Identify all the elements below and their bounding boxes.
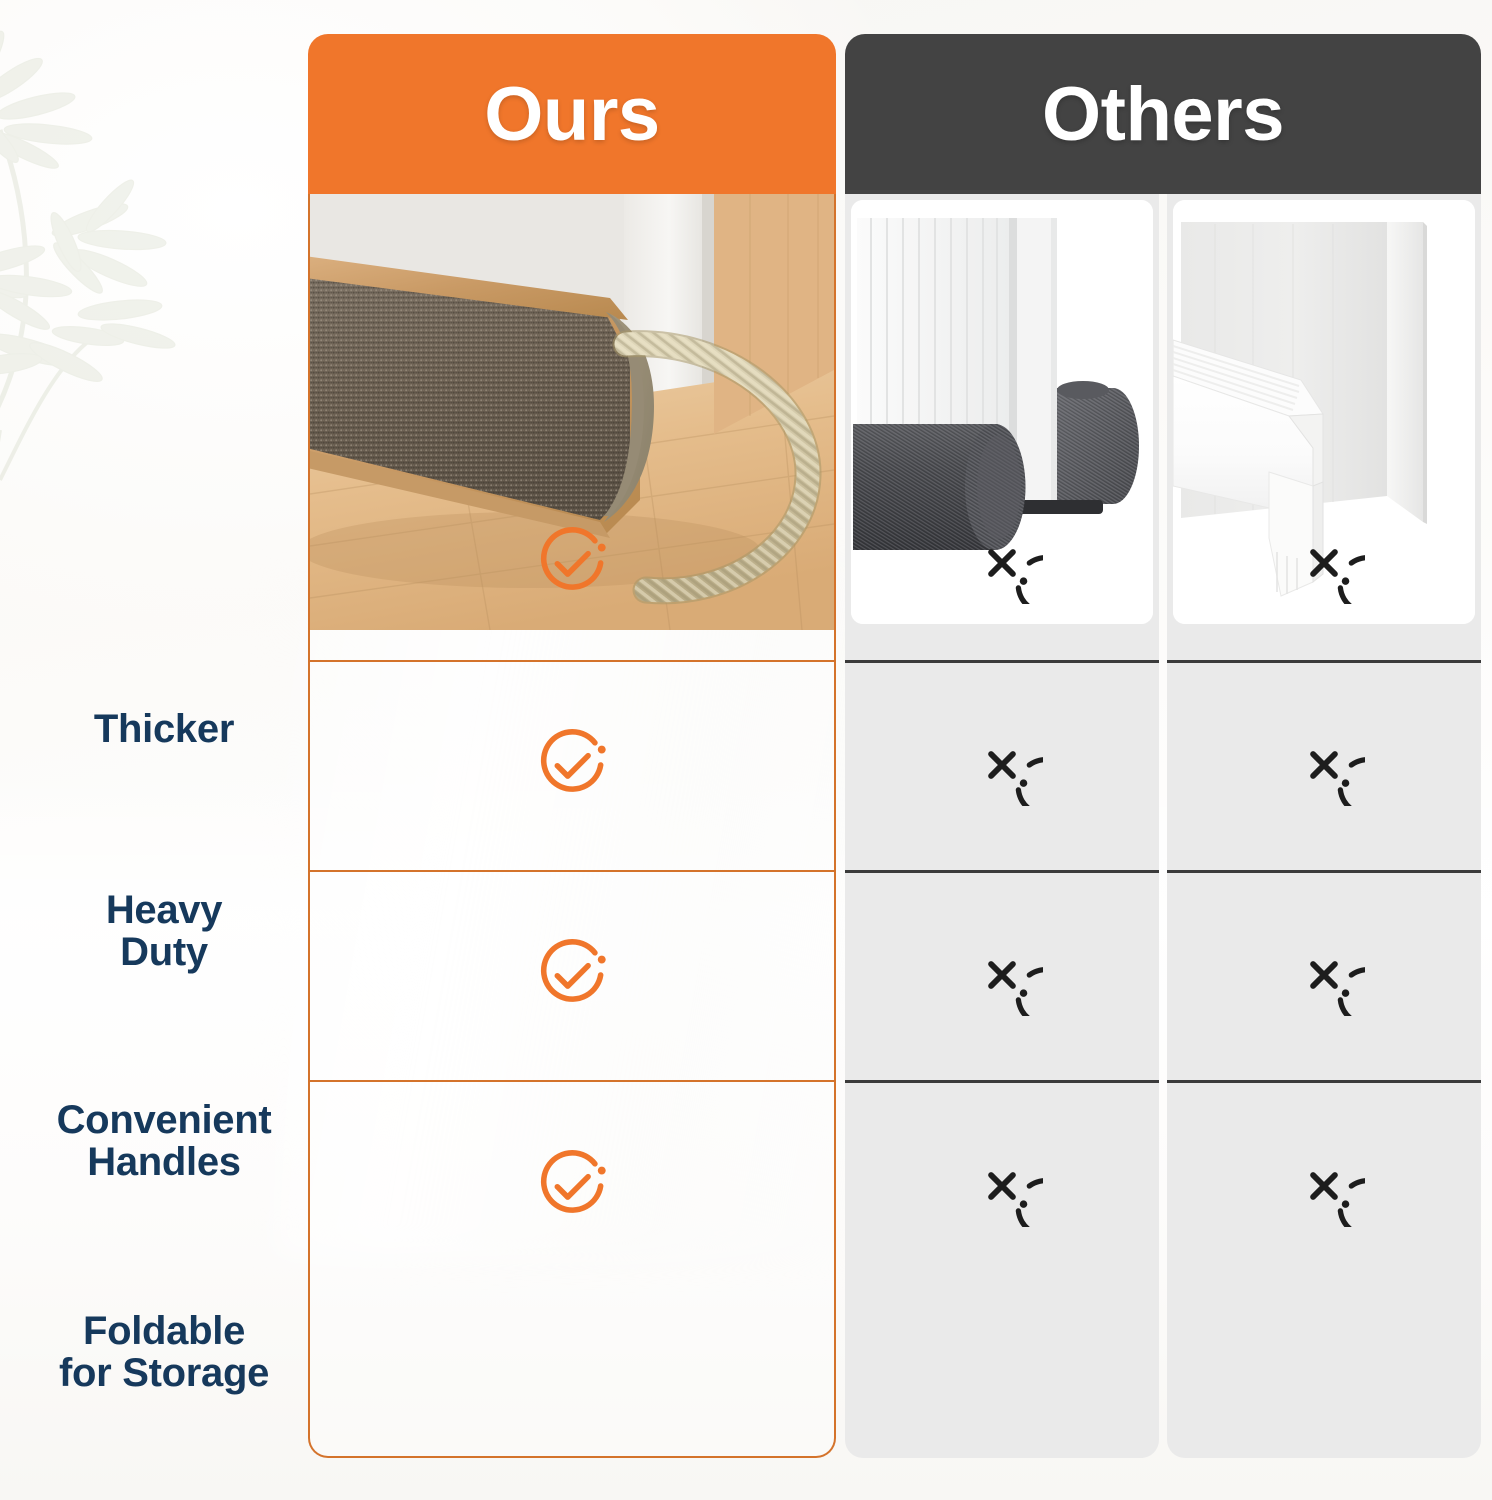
others-cell-1-foldable-for-storage bbox=[845, 1080, 1159, 1292]
feature-label-column: Thicker Heavy Duty Convenient Handles Fo… bbox=[18, 632, 310, 1458]
ours-header-label: Ours bbox=[484, 71, 659, 158]
others-cell-2-convenient-handles bbox=[1167, 870, 1481, 1080]
others-cell-1-heavy-duty bbox=[845, 660, 1159, 870]
ours-column[interactable]: Ours bbox=[308, 34, 836, 1458]
ours-cell-foldable-for-storage bbox=[310, 1080, 834, 1292]
feature-label-foldable-for-storage: Foldable for Storage bbox=[18, 1246, 310, 1458]
ours-column-header: Ours bbox=[308, 34, 836, 194]
check-circle-icon bbox=[529, 722, 615, 808]
feature-label-thicker: Thicker bbox=[18, 632, 310, 826]
cross-circle-icon bbox=[1283, 1145, 1365, 1227]
others-cell-2-foldable-for-storage bbox=[1167, 1080, 1481, 1292]
comparison-table: Thicker Heavy Duty Convenient Handles Fo… bbox=[0, 0, 1492, 1500]
others-column[interactable]: Others bbox=[845, 34, 1481, 1458]
ours-cell-heavy-duty bbox=[310, 660, 834, 870]
others-subcolumn-1 bbox=[845, 194, 1159, 1458]
check-circle-icon bbox=[529, 932, 615, 1018]
others-cell-1-convenient-handles bbox=[845, 870, 1159, 1080]
ours-cell-convenient-handles bbox=[310, 870, 834, 1080]
cross-circle-icon bbox=[1283, 934, 1365, 1016]
others-cell-1-thicker bbox=[845, 466, 1159, 660]
others-subcolumn-2 bbox=[1167, 194, 1481, 1458]
others-cell-2-thicker bbox=[1167, 466, 1481, 660]
cross-circle-icon bbox=[961, 724, 1043, 806]
ours-column-body bbox=[308, 194, 836, 1458]
cross-circle-icon bbox=[961, 934, 1043, 1016]
feature-label-heavy-duty: Heavy Duty bbox=[18, 826, 310, 1036]
cross-circle-icon bbox=[1283, 522, 1365, 604]
others-column-header: Others bbox=[845, 34, 1481, 194]
others-cell-2-heavy-duty bbox=[1167, 660, 1481, 870]
feature-label-convenient-handles: Convenient Handles bbox=[18, 1036, 310, 1246]
cross-circle-icon bbox=[961, 1145, 1043, 1227]
ours-cell-thicker bbox=[310, 466, 834, 660]
cross-circle-icon bbox=[961, 522, 1043, 604]
check-circle-icon bbox=[529, 520, 615, 606]
check-circle-icon bbox=[529, 1143, 615, 1229]
others-header-label: Others bbox=[1042, 71, 1284, 158]
cross-circle-icon bbox=[1283, 724, 1365, 806]
